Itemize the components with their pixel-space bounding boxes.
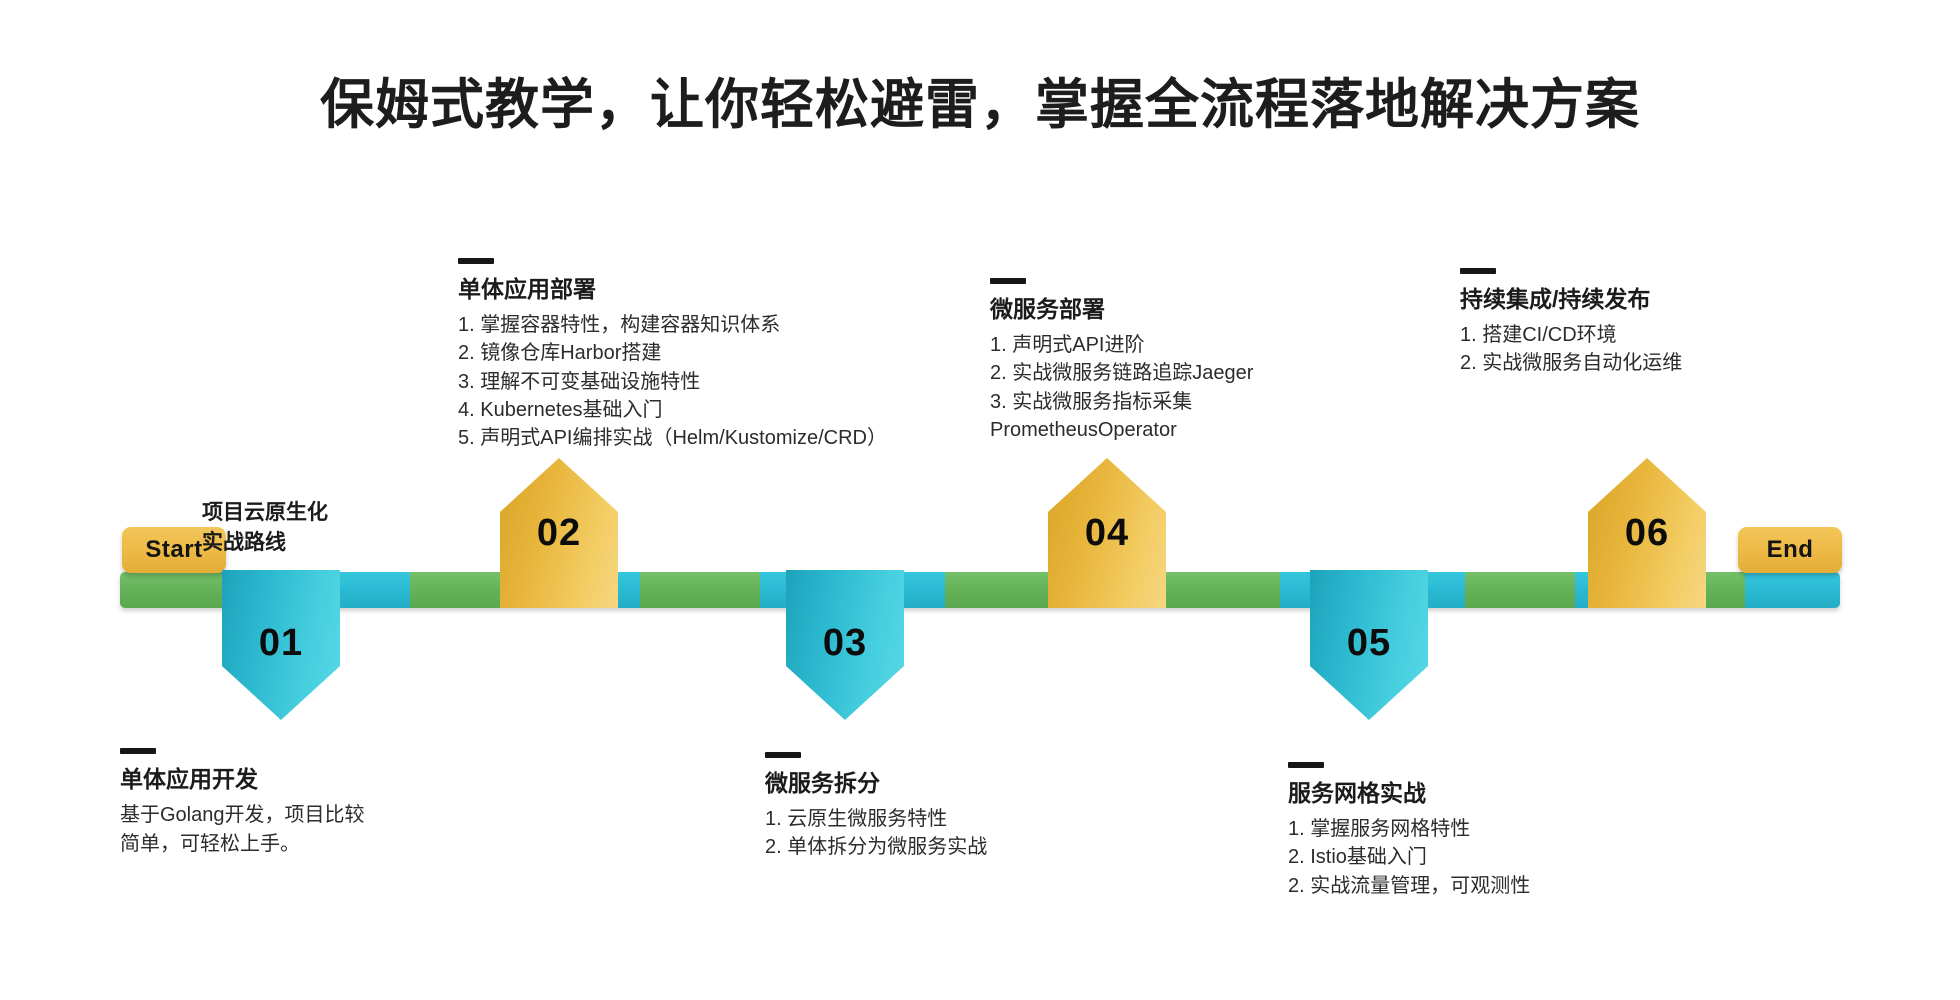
accent-dash-icon <box>1288 762 1324 768</box>
list-item: 3. 理解不可变基础设施特性 <box>458 368 887 396</box>
block-02: 单体应用部署1. 掌握容器特性，构建容器知识体系2. 镜像仓库Harbor搭建3… <box>458 258 887 453</box>
block-heading: 持续集成/持续发布 <box>1460 285 1682 314</box>
timeline-marker-03[interactable]: 03 <box>786 570 904 720</box>
timeline-marker-06[interactable]: 06 <box>1588 458 1706 608</box>
marker-number: 05 <box>1310 622 1428 665</box>
block-item-list: 1. 掌握容器特性，构建容器知识体系2. 镜像仓库Harbor搭建3. 理解不可… <box>458 311 887 453</box>
list-item: 2. 单体拆分为微服务实战 <box>765 833 987 861</box>
timeline-segment <box>945 572 1055 608</box>
timeline-segment <box>1160 572 1280 608</box>
timeline-segment <box>640 572 760 608</box>
timeline-segment <box>120 572 230 608</box>
list-item: 2. 实战微服务链路追踪Jaeger <box>990 359 1253 387</box>
list-item: 1. 声明式API进阶 <box>990 331 1253 359</box>
accent-dash-icon <box>1460 268 1496 274</box>
block-item-list: 1. 搭建CI/CD环境2. 实战微服务自动化运维 <box>1460 321 1682 378</box>
marker-number: 06 <box>1588 512 1706 555</box>
accent-dash-icon <box>990 278 1026 284</box>
list-item: 1. 搭建CI/CD环境 <box>1460 321 1682 349</box>
block-04: 微服务部署1. 声明式API进阶2. 实战微服务链路追踪Jaeger3. 实战微… <box>990 278 1253 444</box>
accent-dash-icon <box>458 258 494 264</box>
timeline-marker-05[interactable]: 05 <box>1310 570 1428 720</box>
block-01: 单体应用开发基于Golang开发，项目比较简单，可轻松上手。 <box>120 748 370 859</box>
page-title: 保姆式教学，让你轻松避雷，掌握全流程落地解决方案 <box>0 76 1960 135</box>
accent-dash-icon <box>120 748 156 754</box>
list-item: 2. Istio基础入门 <box>1288 843 1530 871</box>
end-badge[interactable]: End <box>1738 527 1842 573</box>
timeline-segment <box>1745 572 1840 608</box>
list-item: PrometheusOperator <box>990 416 1253 444</box>
block-heading: 微服务部署 <box>990 295 1253 324</box>
marker-number: 02 <box>500 512 618 555</box>
marker-number: 01 <box>222 622 340 665</box>
block-item-list: 1. 声明式API进阶2. 实战微服务链路追踪Jaeger3. 实战微服务指标采… <box>990 331 1253 445</box>
timeline-marker-01[interactable]: 01 <box>222 570 340 720</box>
block-item-list: 1. 云原生微服务特性2. 单体拆分为微服务实战 <box>765 805 987 862</box>
block-heading: 服务网格实战 <box>1288 779 1530 808</box>
list-item: 4. Kubernetes基础入门 <box>458 396 887 424</box>
timeline-marker-02[interactable]: 02 <box>500 458 618 608</box>
list-item: 2. 镜像仓库Harbor搭建 <box>458 339 887 367</box>
block-03: 微服务拆分1. 云原生微服务特性2. 单体拆分为微服务实战 <box>765 752 987 862</box>
block-heading: 微服务拆分 <box>765 769 987 798</box>
list-item: 2. 实战流量管理，可观测性 <box>1288 872 1530 900</box>
block-05: 服务网格实战1. 掌握服务网格特性2. Istio基础入门2. 实战流量管理，可… <box>1288 762 1530 900</box>
marker-number: 04 <box>1048 512 1166 555</box>
list-item: 3. 实战微服务指标采集 <box>990 388 1253 416</box>
timeline-marker-04[interactable]: 04 <box>1048 458 1166 608</box>
marker-number: 03 <box>786 622 904 665</box>
block-item-list: 1. 掌握服务网格特性2. Istio基础入门2. 实战流量管理，可观测性 <box>1288 815 1530 900</box>
block-heading: 单体应用部署 <box>458 275 887 304</box>
route-label-line2: 实战路线 <box>202 528 328 558</box>
route-label-line1: 项目云原生化 <box>202 498 328 528</box>
list-item: 2. 实战微服务自动化运维 <box>1460 349 1682 377</box>
timeline-bar <box>120 572 1840 608</box>
block-heading: 单体应用开发 <box>120 765 370 794</box>
list-item: 5. 声明式API编排实战（Helm/Kustomize/CRD） <box>458 424 887 452</box>
block-paragraph: 基于Golang开发，项目比较简单，可轻松上手。 <box>120 801 370 859</box>
route-label: 项目云原生化 实战路线 <box>202 498 328 558</box>
list-item: 1. 掌握服务网格特性 <box>1288 815 1530 843</box>
accent-dash-icon <box>765 752 801 758</box>
block-06: 持续集成/持续发布1. 搭建CI/CD环境2. 实战微服务自动化运维 <box>1460 268 1682 378</box>
list-item: 1. 云原生微服务特性 <box>765 805 987 833</box>
infographic-canvas: 保姆式教学，让你轻松避雷，掌握全流程落地解决方案 Start End 项目云原生… <box>0 0 1960 1000</box>
timeline-segment <box>1465 572 1575 608</box>
list-item: 1. 掌握容器特性，构建容器知识体系 <box>458 311 887 339</box>
